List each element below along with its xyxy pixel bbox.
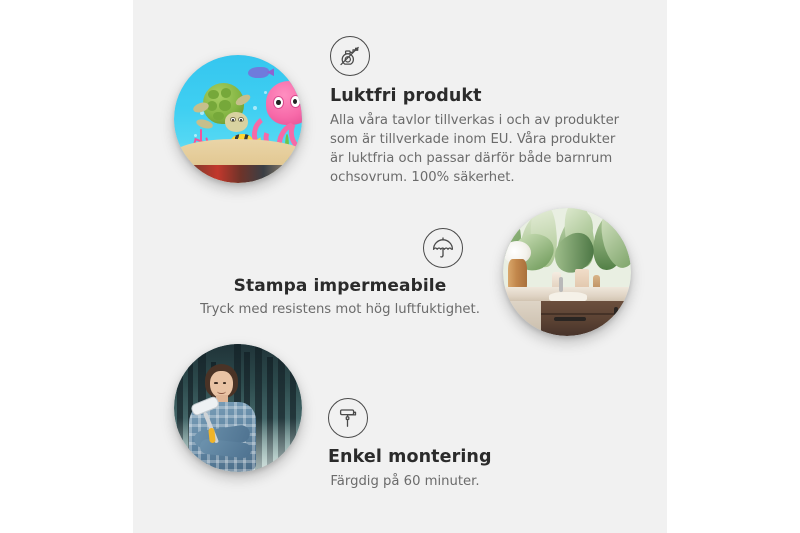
- feature-waterproof-print: Stampa impermeabile Tryck med resistens …: [195, 228, 485, 320]
- underwater-cartoon-photo: [174, 55, 302, 183]
- woman-figure: [174, 344, 302, 472]
- feature-odour-free: Luktfri produkt Alla våra tavlor tillver…: [330, 36, 630, 187]
- product-feature-banner: Luktfri produkt Alla våra tavlor tillver…: [0, 0, 800, 533]
- vanity-cabinet: [541, 301, 631, 336]
- feature-title: Luktfri produkt: [330, 86, 630, 108]
- woman-paint-roller-forest-photo: [174, 344, 302, 472]
- feature-body: Alla våra tavlor tillverkas i och av pro…: [330, 112, 630, 188]
- feature-title: Stampa impermeabile: [195, 276, 485, 297]
- feature-body: Tryck med resistens mot hög luftfuktighe…: [195, 301, 485, 320]
- feature-easy-mounting: Enkel montering Färgdig på 60 minuter.: [328, 398, 588, 492]
- feature-body: Färgdig på 60 minuter.: [328, 473, 482, 492]
- feature-title: Enkel montering: [328, 447, 588, 469]
- umbrella-icon: [423, 228, 463, 268]
- no-fragrance-icon: [330, 36, 370, 76]
- paint-roller-icon: [328, 398, 368, 438]
- bathroom-leaf-wallpaper-photo: [503, 208, 631, 336]
- faucet: [559, 277, 563, 292]
